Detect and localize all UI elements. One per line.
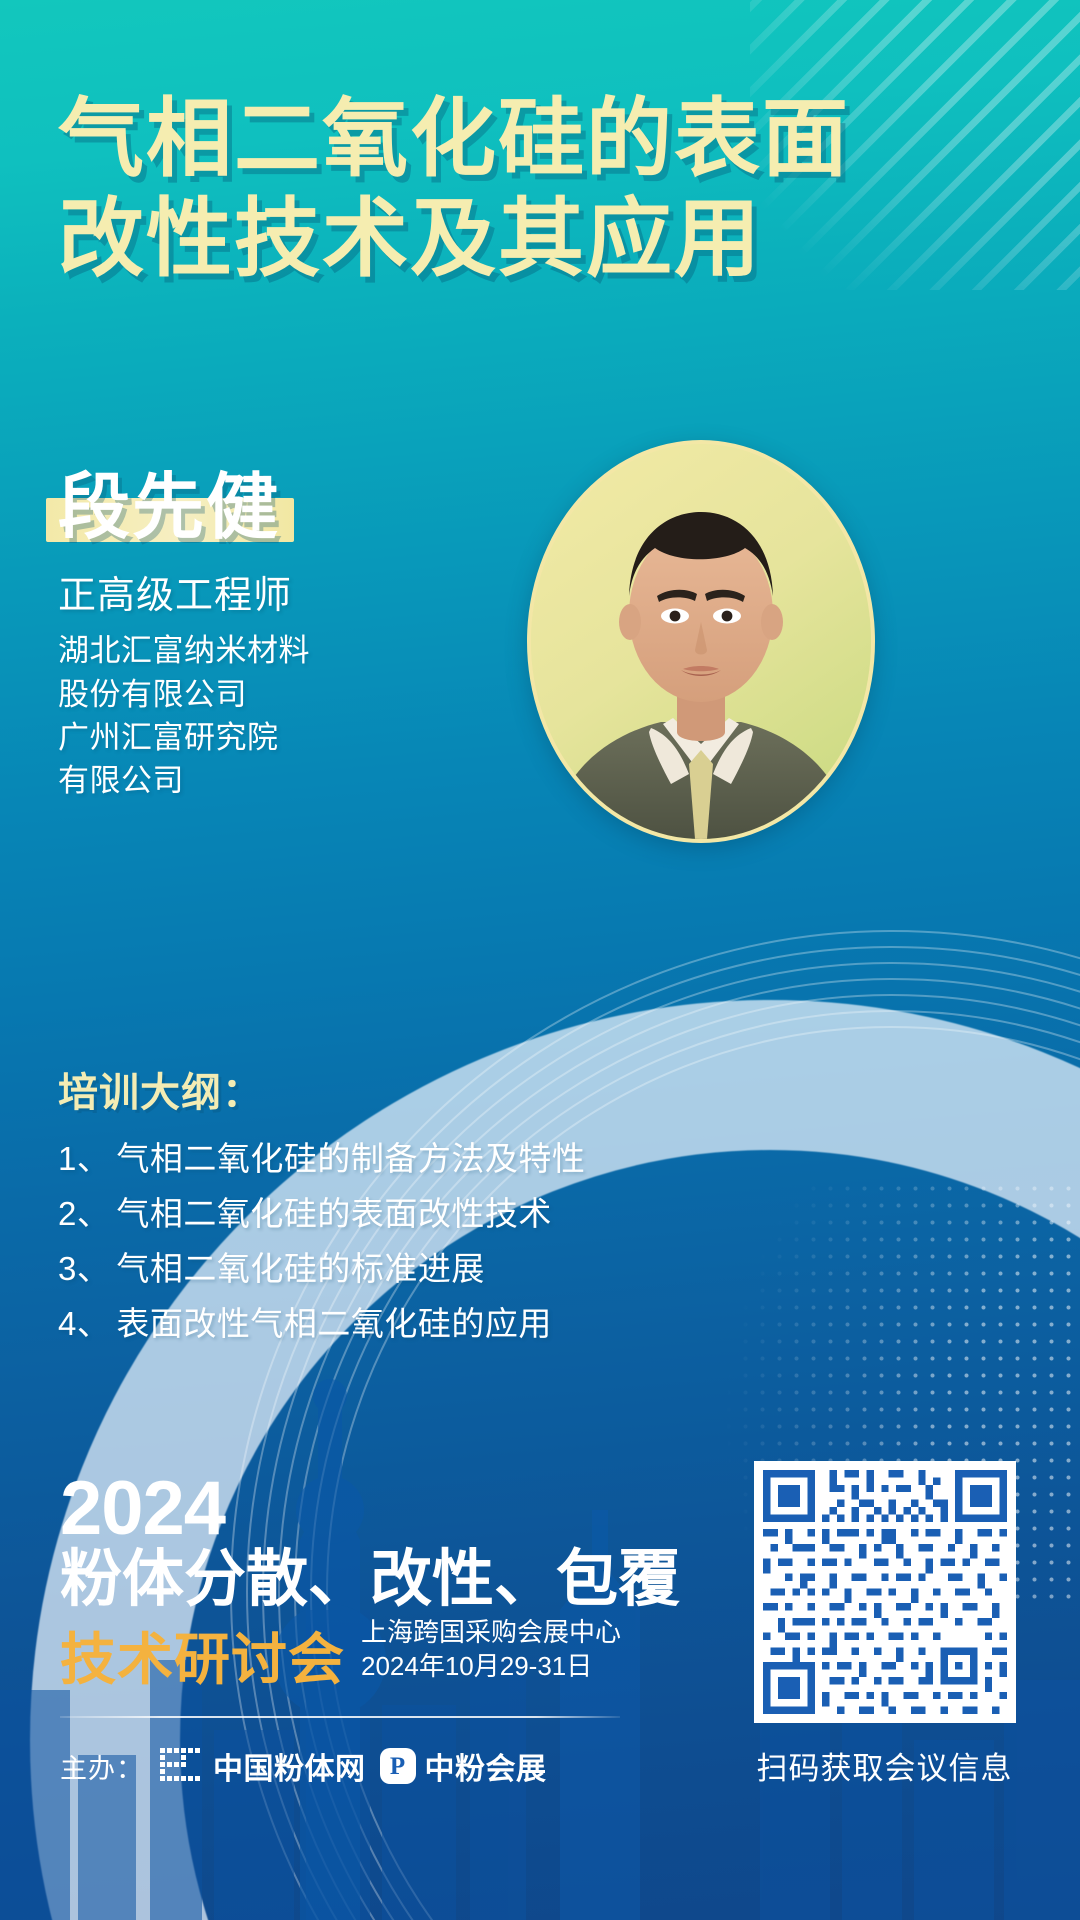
title-line-1: 气相二氧化硅的表面 <box>58 91 850 187</box>
affiliation-line: 广州汇富研究院 <box>58 716 478 759</box>
event-info: 2024 粉体分散、改性、包覆 技术研讨会 上海跨国采购会展中心 2024年10… <box>60 1473 620 1789</box>
speaker-info: 段先健 正高级工程师 湖北汇富纳米材料 股份有限公司 广州汇富研究院 有限公司 <box>58 470 478 803</box>
footer-divider <box>60 1716 620 1718</box>
organizer-row: 主办： 中国粉体网 <box>60 1744 620 1788</box>
event-venue-info: 上海跨国采购会展中心 2024年10月29-31日 <box>361 1616 621 1690</box>
affiliation-line: 有限公司 <box>58 759 478 802</box>
event-year: 2024 <box>60 1473 620 1546</box>
organizer-name: 中国粉体网 <box>213 1744 366 1788</box>
speaker-name: 段先健 <box>58 470 280 546</box>
training-outline: 培训大纲： 1、气相二氧化硅的制备方法及特性 2、气相二氧化硅的表面改性技术 3… <box>58 1060 698 1355</box>
pixel-grid-logo-icon <box>158 1746 204 1786</box>
rounded-p-logo-icon: P <box>380 1748 416 1784</box>
outline-heading: 培训大纲： <box>58 1060 698 1118</box>
portrait-illustration <box>531 444 871 839</box>
outline-item-text: 气相二氧化硅的标准进展 <box>116 1250 485 1287</box>
outline-item-number: 4、 <box>58 1305 110 1342</box>
event-name-sub: 技术研讨会 <box>60 1631 345 1690</box>
title-line-2: 改性技术及其应用 <box>58 196 1018 282</box>
organizer-item[interactable]: 中国粉体网 <box>158 1744 366 1788</box>
outline-item-text: 表面改性气相二氧化硅的应用 <box>116 1305 552 1342</box>
qr-caption: 扫码获取会议信息 <box>747 1743 1022 1788</box>
outline-item-number: 2、 <box>58 1195 110 1232</box>
outline-item: 3、气相二氧化硅的标准进展 <box>58 1246 698 1293</box>
outline-item-number: 1、 <box>58 1140 110 1177</box>
qr-code-icon <box>763 1470 1007 1714</box>
event-name-main: 粉体分散、改性、包覆 <box>60 1547 620 1614</box>
conference-poster: 气相二氧化硅的表面 改性技术及其应用 段先健 正高级工程师 湖北汇富纳米材料 股… <box>0 0 1080 1920</box>
event-sub-row: 技术研讨会 上海跨国采购会展中心 2024年10月29-31日 <box>60 1616 620 1690</box>
speaker-name-wrap: 段先健 <box>58 470 280 546</box>
outline-item-text: 气相二氧化硅的表面改性技术 <box>116 1195 552 1232</box>
poster-title: 气相二氧化硅的表面 改性技术及其应用 <box>58 96 1018 282</box>
organizer-item[interactable]: P 中粉会展 <box>380 1744 547 1788</box>
event-dates: 2024年10月29-31日 <box>361 1650 621 1684</box>
qr-code[interactable] <box>754 1461 1016 1723</box>
outline-item-text: 气相二氧化硅的制备方法及特性 <box>116 1140 585 1177</box>
organizer-name: 中粉会展 <box>425 1744 547 1788</box>
outline-item: 1、气相二氧化硅的制备方法及特性 <box>58 1136 698 1183</box>
organizer-label: 主办： <box>60 1747 144 1786</box>
venue-name: 上海跨国采购会展中心 <box>361 1616 621 1650</box>
speaker-title: 正高级工程师 <box>58 564 478 619</box>
speaker-portrait <box>527 440 875 843</box>
speaker-affiliation: 湖北汇富纳米材料 股份有限公司 广州汇富研究院 有限公司 <box>58 629 478 803</box>
affiliation-line: 股份有限公司 <box>58 673 478 716</box>
outline-item: 2、气相二氧化硅的表面改性技术 <box>58 1191 698 1238</box>
outline-item: 4、表面改性气相二氧化硅的应用 <box>58 1301 698 1348</box>
outline-item-number: 3、 <box>58 1250 110 1287</box>
affiliation-line: 湖北汇富纳米材料 <box>58 629 478 672</box>
qr-section: 扫码获取会议信息 <box>747 1461 1022 1788</box>
